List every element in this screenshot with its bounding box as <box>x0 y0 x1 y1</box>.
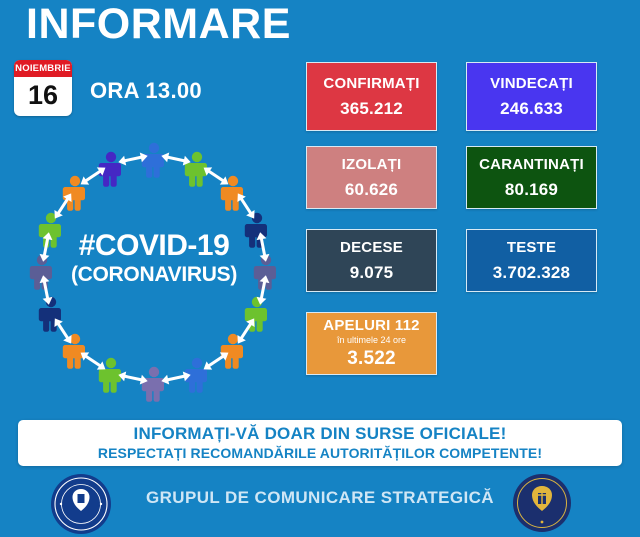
stat-card-apeluri: APELURI 112 în ultimele 24 ore 3.522 <box>306 312 437 375</box>
stat-value-decese: 9.075 <box>350 263 394 283</box>
stat-label-decese: DECESE <box>340 239 403 256</box>
stat-card-decese: DECESE 9.075 <box>306 229 437 292</box>
calendar-day-label: 16 <box>14 77 72 116</box>
stat-label-apeluri: APELURI 112 <box>323 317 419 334</box>
stat-label-carantinati: CARANTINAȚI <box>479 156 584 173</box>
stat-value-teste: 3.702.328 <box>493 263 570 283</box>
infographic-root: INFORMARE NOIEMBRIE 16 ORA 13.00 <box>0 0 640 537</box>
stat-note-apeluri: în ultimele 24 ore <box>337 335 406 346</box>
stat-value-confirmati: 365.212 <box>340 99 403 119</box>
banner-line-2: RESPECTAȚI RECOMANDĂRILE AUTORITĂȚILOR C… <box>98 445 542 462</box>
official-sources-banner: INFORMAȚI-VĂ DOAR DIN SURSE OFICIALE! RE… <box>18 420 622 466</box>
stat-card-izolati: IZOLAȚI 60.626 <box>306 146 437 209</box>
stat-value-apeluri: 3.522 <box>347 348 396 370</box>
stat-card-vindecati: VINDECAȚI 246.633 <box>466 62 597 131</box>
stat-value-carantinati: 80.169 <box>505 180 558 200</box>
stat-value-izolati: 60.626 <box>345 180 398 200</box>
stat-value-vindecati: 246.633 <box>500 99 563 119</box>
calendar-icon: NOIEMBRIE 16 <box>14 60 72 116</box>
mai-seal-icon <box>512 473 572 533</box>
stat-card-teste: TESTE 3.702.328 <box>466 229 597 292</box>
covid-ring-graphic: #COVID-19 (CORONAVIRUS) <box>16 130 292 408</box>
stat-label-confirmati: CONFIRMAȚI <box>323 75 419 92</box>
stat-card-confirmati: CONFIRMAȚI 365.212 <box>306 62 437 131</box>
stat-label-teste: TESTE <box>507 239 556 256</box>
stat-card-carantinati: CARANTINAȚI 80.169 <box>466 146 597 209</box>
stat-label-izolati: IZOLAȚI <box>342 156 402 173</box>
stat-label-vindecati: VINDECAȚI <box>490 75 573 92</box>
banner-line-1: INFORMAȚI-VĂ DOAR DIN SURSE OFICIALE! <box>134 424 507 444</box>
page-title: INFORMARE <box>26 2 291 47</box>
report-time: ORA 13.00 <box>90 78 202 104</box>
calendar-month-label: NOIEMBRIE <box>14 60 72 77</box>
